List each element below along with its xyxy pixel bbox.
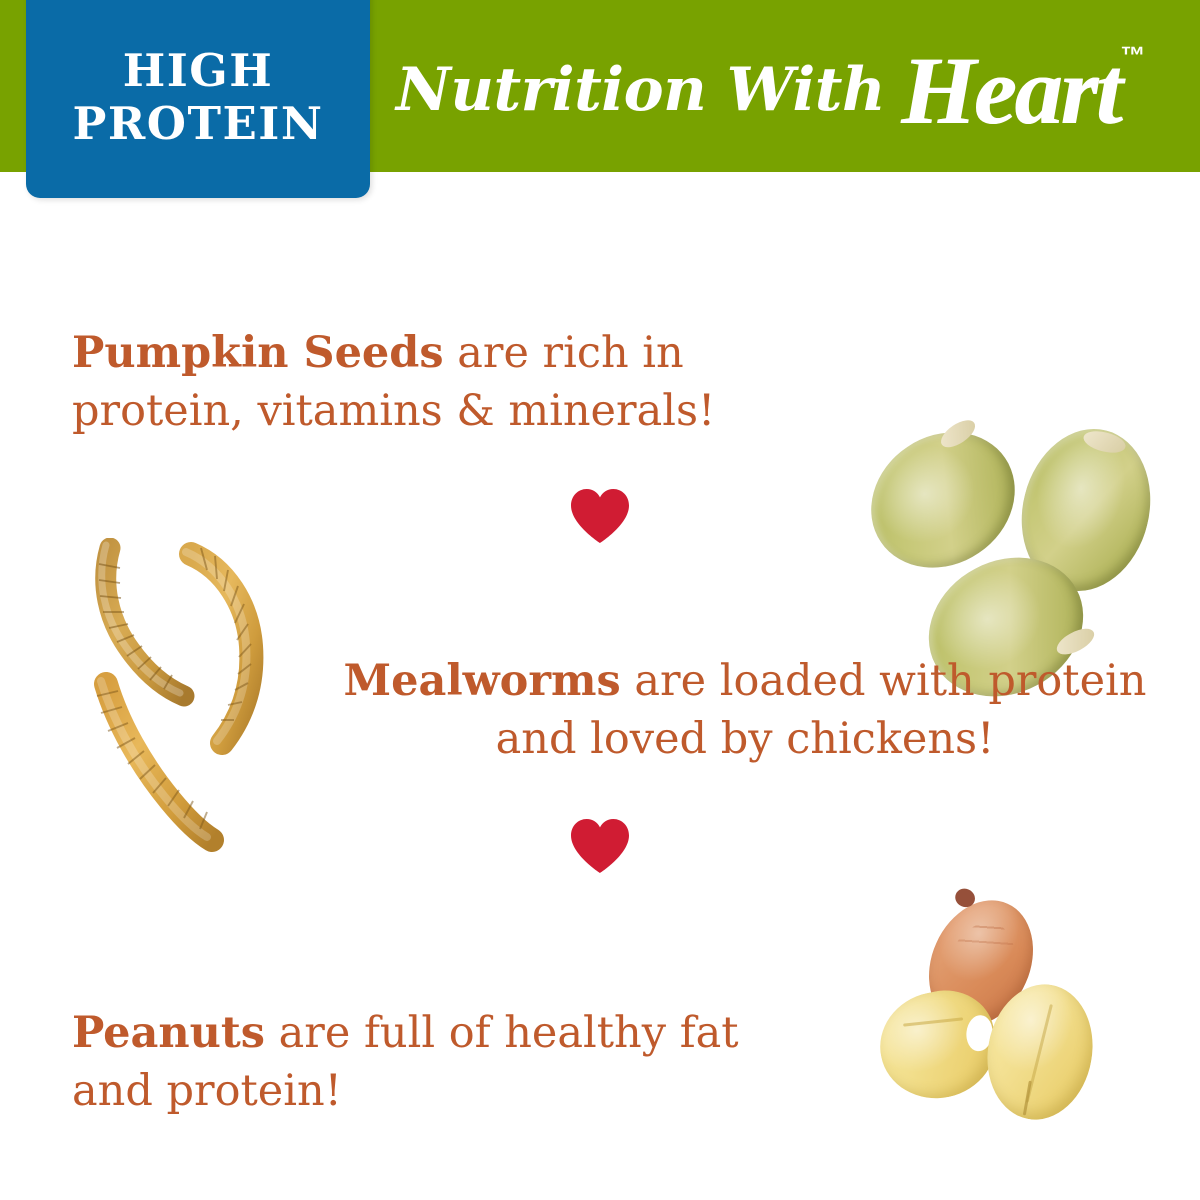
heart-divider-2 <box>0 818 1200 874</box>
high-protein-badge: HIGH PROTEIN <box>26 0 370 198</box>
header-banner: HIGH PROTEIN Nutrition With Heart ™ <box>0 0 1200 172</box>
pumpkin-seeds-copy: Pumpkin Seeds are rich in protein, vitam… <box>72 325 832 440</box>
peanuts-copy: Peanuts are full of healthy fat and prot… <box>72 1005 812 1120</box>
section-pumpkin-seeds: Pumpkin Seeds are rich in protein, vitam… <box>0 200 1200 490</box>
section-mealworms: Mealworms are loaded with protein and lo… <box>0 520 1200 810</box>
high-protein-badge-label: HIGH PROTEIN <box>73 28 324 150</box>
mealworm-2 <box>186 548 251 743</box>
mealworm-3 <box>97 681 212 840</box>
mealworms-lead: Mealworms <box>344 656 621 706</box>
mealworm-1 <box>99 545 184 696</box>
mealworms-illustration <box>88 538 358 858</box>
peanuts-photo <box>880 898 1150 1128</box>
header-title-script: Heart <box>901 35 1120 146</box>
header-title-primary: Nutrition With <box>396 55 885 125</box>
pumpkin-seeds-lead: Pumpkin Seeds <box>72 328 444 378</box>
heart-icon <box>569 818 631 874</box>
header-title: Nutrition With Heart ™ <box>396 0 1200 172</box>
section-peanuts: Peanuts are full of healthy fat and prot… <box>0 880 1200 1160</box>
trademark-icon: ™ <box>1120 42 1145 71</box>
peanuts-lead: Peanuts <box>72 1008 265 1058</box>
mealworms-photo <box>88 538 358 858</box>
mealworms-copy: Mealworms are loaded with protein and lo… <box>330 653 1160 768</box>
